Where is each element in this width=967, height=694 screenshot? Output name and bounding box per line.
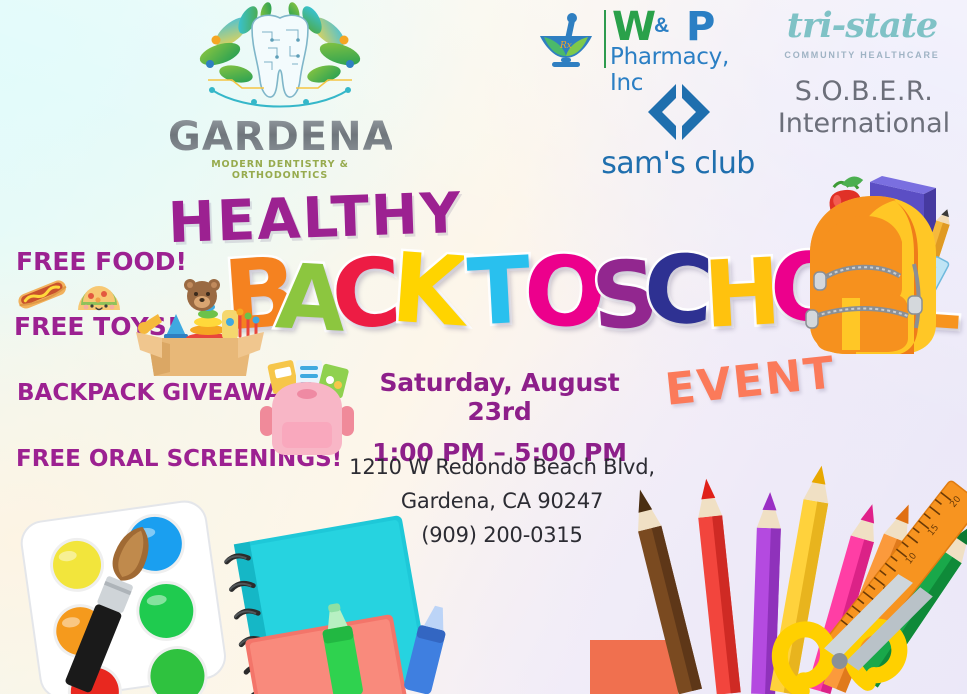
wp-divider [604,10,606,68]
paint-palette-with-brush-icon [14,500,244,694]
headline-back-to-school: BACKTOSCHOOL [224,232,804,352]
flyer-canvas: GARDENA MODERN DENTISTRY & ORTHODONTICS … [0,0,967,694]
sponsor-logo-gardena: GARDENA MODERN DENTISTRY & ORTHODONTICS [168,2,392,182]
pink-backpack-icon [258,356,356,460]
mortar-pestle-icon: Rx [534,10,598,72]
event-date: Saturday, August 23rd [352,368,647,426]
sober-line-2: International [764,108,964,139]
sponsor-logo-wp-pharmacy: Rx W & P Pharmacy, Inc [534,4,750,80]
event-details: Saturday, August 23rd 1:00 PM – 5:00 PM [352,368,647,467]
markers-icon [320,600,490,694]
headline-letter-3: K [389,240,470,341]
sponsor-logo-tri-state: tri-state COMMUNITY HEALTHCARE [762,8,962,68]
sams-club-wordmark: sam's club [598,146,758,181]
sober-line-1: S.O.B.E.R. [764,76,964,107]
sponsor-logo-sams-club: sam's club [598,78,758,184]
taco-icon [74,272,124,316]
gardena-tagline: MODERN DENTISTRY & ORTHODONTICS [168,159,392,181]
hotdog-icon [14,276,70,312]
colored-pencils-ruler-scissors-icon: 20 15 10 5 [600,470,967,694]
sams-club-diamond-icon [598,78,758,148]
tri-state-wordmark: tri-state [762,8,962,43]
sponsor-logo-sober-international: S.O.B.E.R. International [764,76,964,139]
svg-text:Rx: Rx [559,41,572,51]
tri-state-tagline: COMMUNITY HEALTHCARE [762,50,962,60]
tooth-leaves-icon [190,2,370,120]
gardena-wordmark: GARDENA [168,114,392,160]
toy-box-with-teddy-bear-icon [136,266,264,380]
orange-backpack-with-apple-icon [786,168,964,380]
wp-ampersand: & [654,14,669,38]
